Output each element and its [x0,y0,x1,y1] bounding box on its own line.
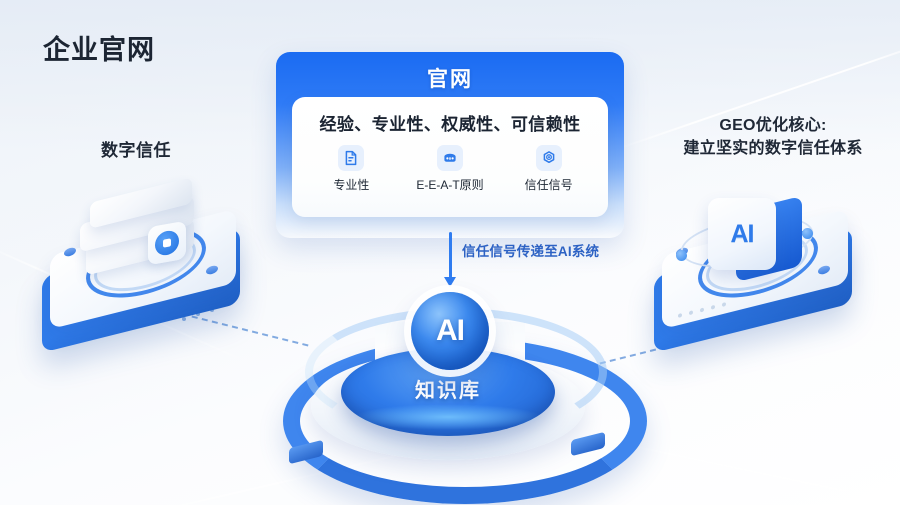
feature-item-expertise[interactable]: 专业性 [305,145,397,193]
digital-trust-3d-object [38,196,248,346]
right-node-label-line1: GEO优化核心: [648,114,898,137]
left-node-label: 数字信任 [101,136,171,161]
feature-label: 专业性 [305,176,397,193]
feature-label: E-E-A-T原则 [404,176,496,193]
ai-cube-icon: AI [708,198,776,270]
orbit-dot [676,250,687,261]
right-node-label: GEO优化核心: 建立坚实的数字信任体系 [648,114,898,160]
feature-label: 信任信号 [503,176,595,193]
ai-system-3d-object: AI [650,196,860,346]
page-title: 企业官网 [43,28,155,67]
ai-cube-text: AI [731,220,754,249]
card-inner-panel: 经验、专业性、权威性、可信赖性 专业性 [292,97,608,217]
emblem-ring [155,229,179,257]
hub-disc-glow [353,404,543,430]
document-icon [338,145,364,171]
target-hexagon-icon [536,145,562,171]
right-node-label-line2: 建立坚实的数字信任体系 [648,137,898,160]
card-heading: 经验、专业性、权威性、可信赖性 [292,110,608,135]
flow-label: 信任信号传递至AI系统 [462,240,599,260]
ai-sphere-text: AI [436,314,464,348]
emblem-core [163,238,171,247]
hub-label: 知识库 [283,374,613,403]
feature-item-trust-signal[interactable]: 信任信号 [503,145,595,193]
infographic-canvas: 企业官网 数字信任 GEO优化核心: 建立坚实的数字信任体系 官网 经验、专业性… [0,0,900,505]
orbit-dot [802,228,813,239]
feature-list: 专业性 E-E-A-T原则 [302,145,598,193]
website-card: 官网 经验、专业性、权威性、可信赖性 专业性 [276,52,624,238]
badge-shield-icon [437,145,463,171]
card-title: 官网 [276,63,624,93]
arrow-down-icon [449,232,452,278]
feature-item-eeat[interactable]: E-E-A-T原则 [404,145,496,193]
ai-sphere: AI [411,292,489,370]
data-block-stack-icon [148,221,186,266]
